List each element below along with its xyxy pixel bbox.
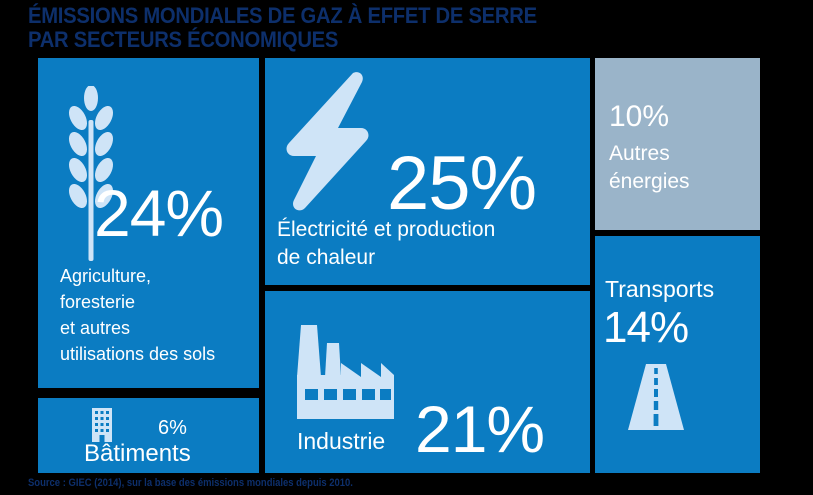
autres-energies-label: Autres énergies: [609, 140, 690, 196]
batiments-percent: 6%: [158, 418, 187, 438]
page-title-line-1: ÉMISSIONS MONDIALES DE GAZ À EFFET DE SE…: [28, 4, 727, 28]
transports-label: Transports: [605, 276, 714, 303]
panel-industrie[interactable]: Industrie 21%: [265, 291, 590, 473]
page-title: ÉMISSIONS MONDIALES DE GAZ À EFFET DE SE…: [28, 4, 788, 52]
industrie-label: Industrie: [297, 428, 385, 455]
source-note: Source : GIEC (2014), sur la base des ém…: [28, 476, 353, 490]
panel-autres-energies[interactable]: 10% Autres énergies: [595, 58, 760, 230]
agriculture-percent: 24%: [94, 180, 223, 246]
building-icon: [90, 408, 114, 442]
factory-icon: [295, 319, 395, 424]
electricite-percent: 25%: [387, 146, 536, 222]
panel-batiments[interactable]: 6% Bâtiments: [38, 398, 259, 473]
industrie-percent: 21%: [415, 396, 544, 462]
lightning-bolt-icon: [283, 70, 371, 212]
autres-energies-percent: 10%: [609, 102, 669, 132]
agriculture-label: Agriculture, foresterie et autres utilis…: [60, 263, 215, 367]
page-title-line-2: PAR SECTEURS ÉCONOMIQUES: [28, 28, 727, 52]
sector-treemap: 24% Agriculture, foresterie et autres ut…: [38, 58, 760, 473]
batiments-label: Bâtiments: [84, 440, 191, 468]
electricite-label: Électricité et production de chaleur: [277, 216, 495, 272]
panel-agriculture[interactable]: 24% Agriculture, foresterie et autres ut…: [38, 58, 259, 388]
transports-percent: 14%: [603, 306, 688, 350]
road-icon: [625, 364, 687, 430]
panel-electricite[interactable]: 25% Électricité et production de chaleur: [265, 58, 590, 285]
panel-transports[interactable]: Transports 14%: [595, 236, 760, 473]
